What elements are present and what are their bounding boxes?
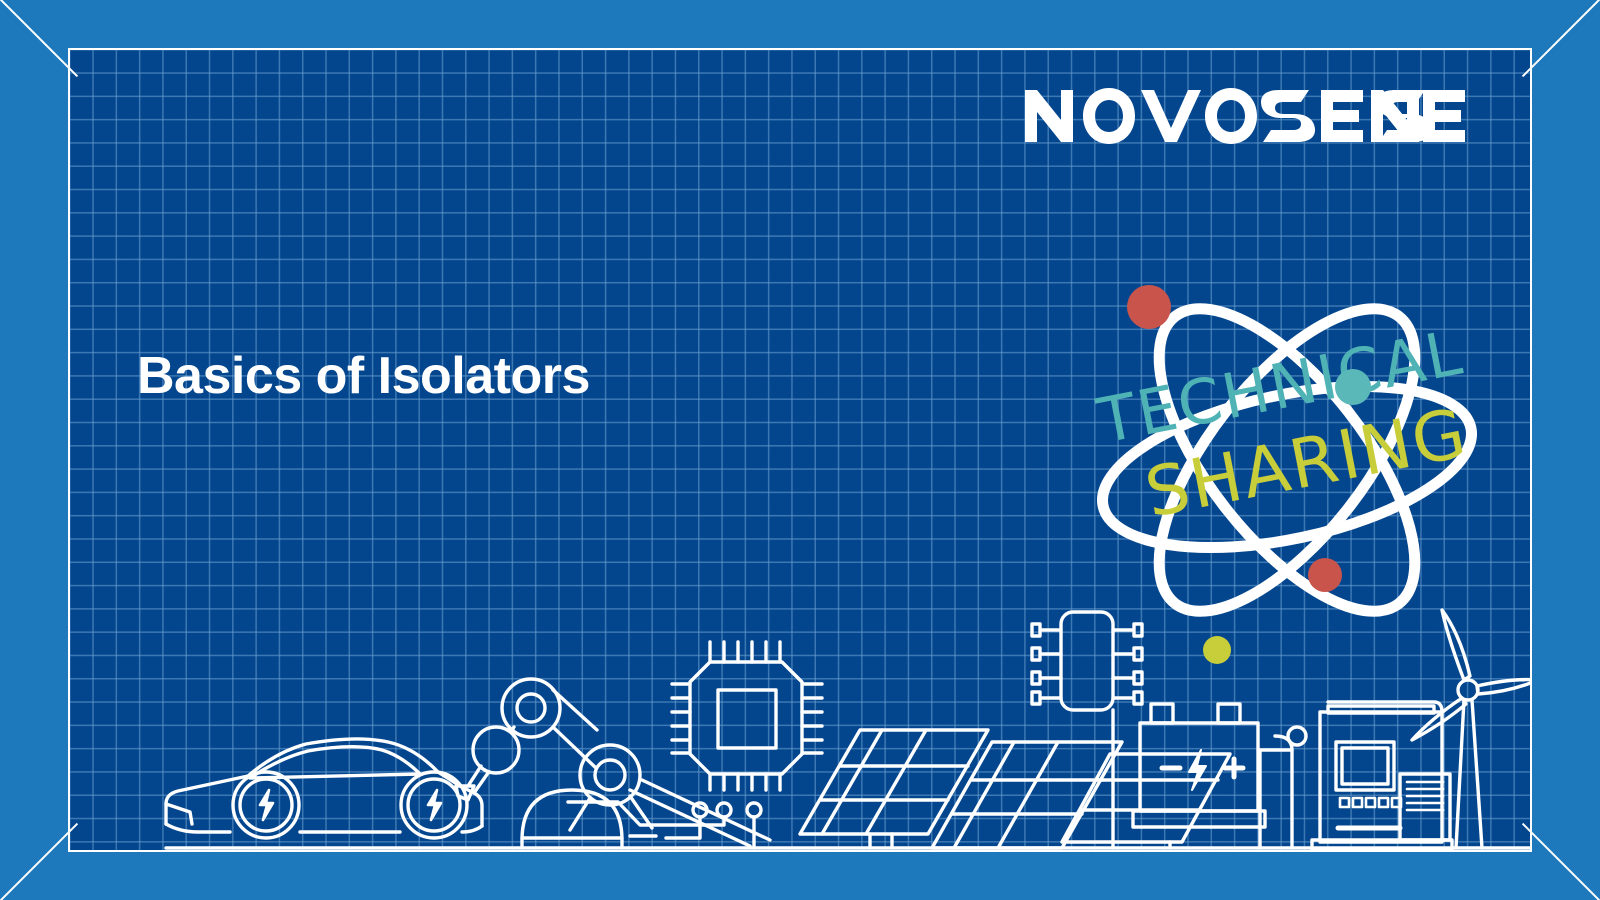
logo-letter-e2 [1423, 90, 1465, 142]
battery-bolt-symbol [1189, 750, 1206, 790]
corner-cut-bottom-left [0, 823, 78, 900]
electric-car-icon [166, 739, 482, 838]
charging-vents [1407, 782, 1443, 810]
slide-canvas: TECHNICAL SHARING [0, 0, 1600, 900]
electron-teal-right-dot [1335, 369, 1371, 405]
logo-letter-s2 [1377, 90, 1431, 142]
novosense-logo [1025, 88, 1465, 144]
qfp-chip-icon [672, 642, 822, 790]
bolt-glyph-front-wheel [260, 790, 273, 820]
logo-letter-s1 [1261, 90, 1315, 142]
logo-letter-v [1141, 90, 1201, 142]
corner-cut-top-right [1522, 0, 1600, 77]
charging-keypad [1340, 798, 1401, 807]
pcb-traces [568, 802, 761, 848]
logo-letter-o2 [1205, 88, 1257, 144]
ev-charging-station-icon [1260, 702, 1452, 850]
electron-lime-bottom-dot [1203, 636, 1231, 664]
page-title: Basics of Isolators [137, 346, 590, 406]
bolt-glyph-rear-wheel [428, 790, 441, 820]
blueprint-panel: TECHNICAL SHARING [68, 48, 1532, 852]
electron-red-top-dot [1127, 285, 1171, 329]
electron-red-bottom-dot [1308, 558, 1342, 592]
solar-panel-icon [800, 730, 1230, 848]
corner-cut-bottom-right [1522, 823, 1600, 900]
logo-letter-n [1025, 90, 1073, 142]
corner-cut-top-left [0, 0, 78, 77]
logo-letter-o1 [1083, 88, 1135, 144]
technical-sharing-badge: TECHNICAL SHARING [1055, 255, 1525, 680]
logo-letter-e1 [1321, 90, 1363, 142]
